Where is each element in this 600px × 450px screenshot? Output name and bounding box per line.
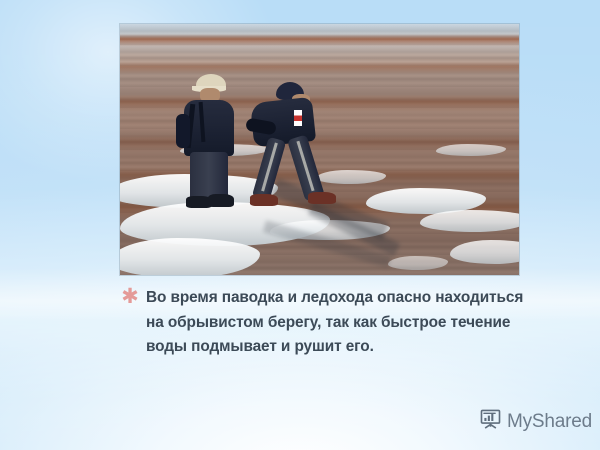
- caption-text: Во время паводка и ледохода опасно наход…: [120, 286, 540, 360]
- person-right-boot: [250, 194, 278, 206]
- photo-snow-slab: [420, 210, 519, 232]
- presentation-board-icon: [479, 407, 502, 435]
- photo-person-left: [178, 74, 244, 212]
- person-left-trousers: [190, 152, 228, 200]
- photo-person-right: [252, 82, 348, 216]
- watermark-label: MyShared: [507, 412, 592, 431]
- bullet-asterisk-icon: ✱: [120, 286, 140, 306]
- person-right-flag-patch: [294, 110, 302, 126]
- person-left-backpack: [176, 114, 190, 148]
- caption-block: ✱ Во время паводка и ледохода опасно нах…: [120, 286, 540, 360]
- person-right-boot: [308, 192, 336, 204]
- slide-canvas: ✱ Во время паводка и ледохода опасно нах…: [0, 0, 600, 450]
- slide-photo: [120, 24, 519, 275]
- photo-snow-slab: [450, 240, 519, 264]
- watermark[interactable]: MyShared: [479, 407, 592, 435]
- person-left-boot: [208, 194, 234, 207]
- photo-snow-slab: [120, 238, 260, 275]
